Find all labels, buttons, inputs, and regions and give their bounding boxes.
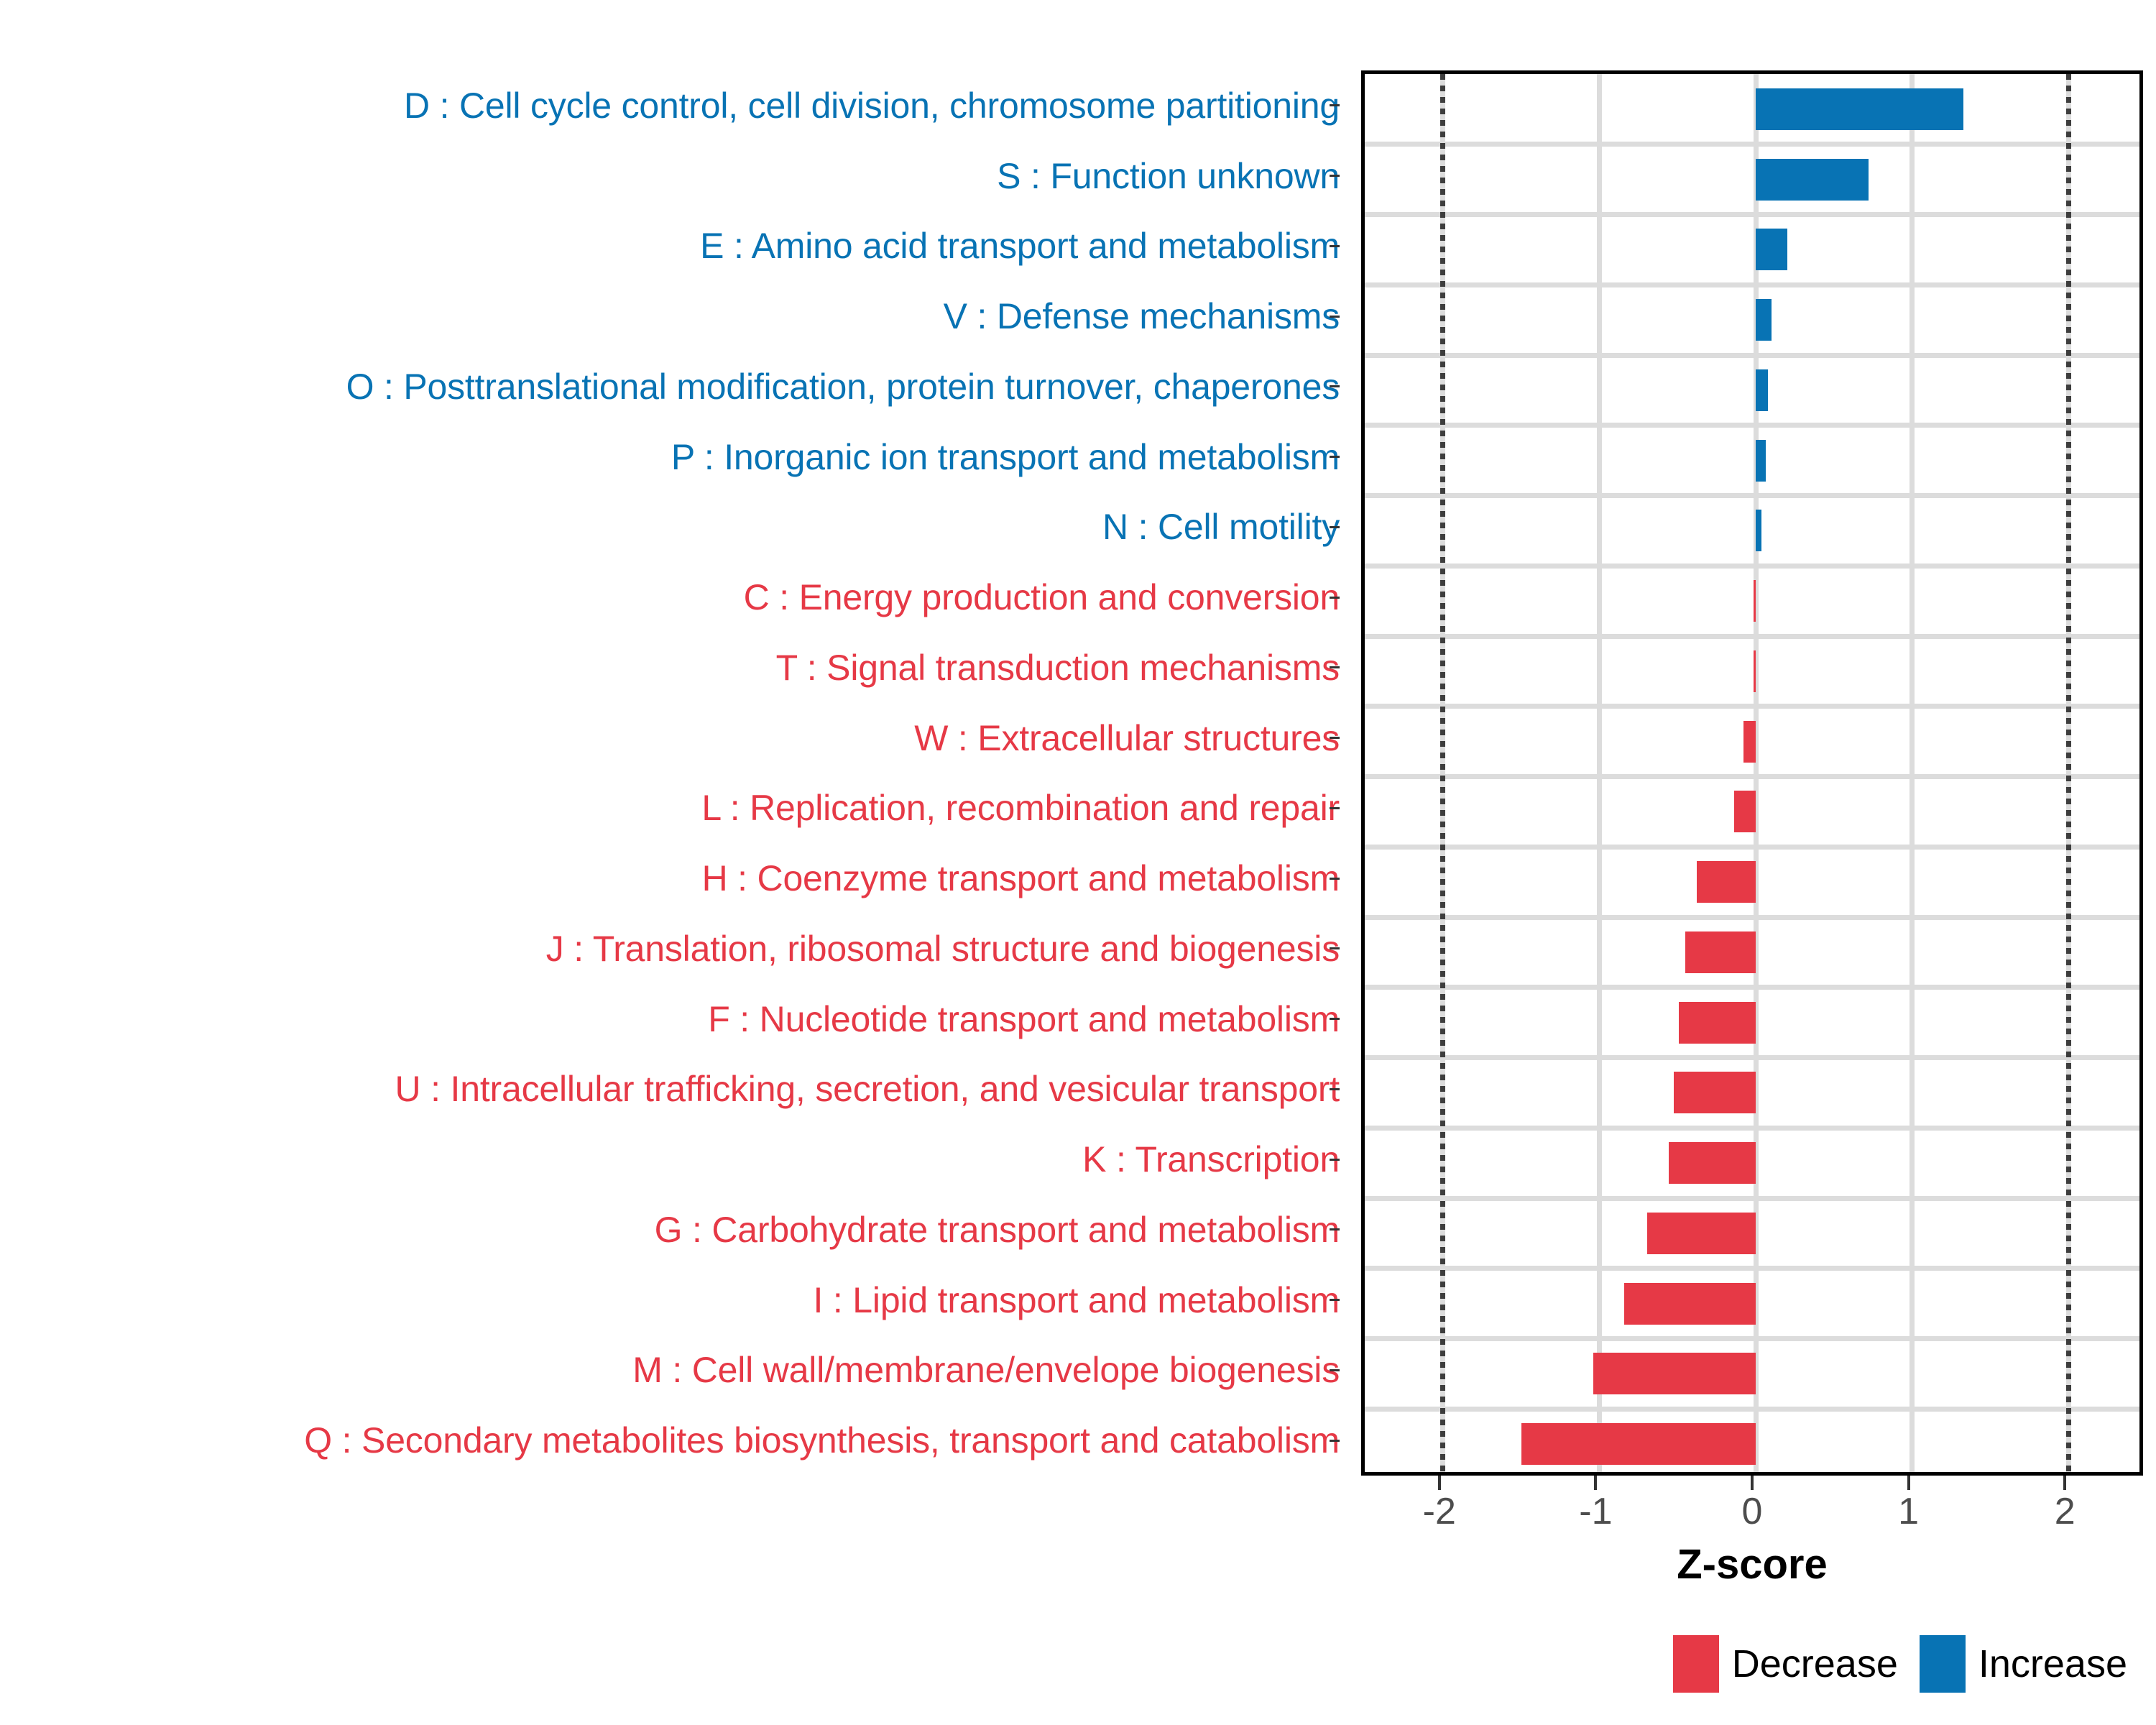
category-label-text: I : Lipid transport and metabolism — [814, 1282, 1340, 1318]
chart-container: D : Cell cycle control, cell division, c… — [0, 0, 2156, 1725]
grid-line-horizontal — [1365, 563, 2139, 569]
category-label-wrap: F : Nucleotide transport and metabolism — [0, 984, 1340, 1054]
category-label-text: O : Posttranslational modification, prot… — [346, 369, 1340, 405]
category-label-text: Q : Secondary metabolites biosynthesis, … — [304, 1422, 1340, 1458]
category-label-row: J : Translation, ribosomal structure and… — [0, 914, 1350, 984]
category-axis-tick — [1330, 1369, 1340, 1371]
category-label-text: K : Transcription — [1082, 1141, 1340, 1177]
grid-line-horizontal — [1365, 1336, 2139, 1341]
x-axis-tick-label: -1 — [1579, 1493, 1612, 1530]
category-axis-tick — [1330, 1440, 1340, 1442]
category-axis-tick — [1330, 456, 1340, 458]
category-label-wrap: J : Translation, ribosomal structure and… — [0, 914, 1340, 984]
category-label-row: O : Posttranslational modification, prot… — [0, 351, 1350, 422]
category-label-wrap: N : Cell motility — [0, 492, 1340, 563]
legend-item[interactable]: Decrease — [1673, 1635, 1898, 1693]
category-label-wrap: D : Cell cycle control, cell division, c… — [0, 70, 1340, 141]
category-label-wrap: U : Intracellular trafficking, secretion… — [0, 1054, 1340, 1125]
x-axis-title: Z-score — [1361, 1544, 2143, 1586]
category-label-wrap: Q : Secondary metabolites biosynthesis, … — [0, 1405, 1340, 1476]
category-label-text: W : Extracellular structures — [914, 720, 1340, 756]
reference-line — [2066, 74, 2071, 1472]
grid-line-horizontal — [1365, 1126, 2139, 1131]
category-label-text: D : Cell cycle control, cell division, c… — [404, 88, 1340, 124]
category-label-text: C : Energy production and conversion — [744, 579, 1340, 615]
category-label-row: L : Replication, recombination and repai… — [0, 773, 1350, 844]
category-axis-tick — [1330, 1018, 1340, 1020]
bar — [1734, 791, 1756, 832]
category-label-wrap: C : Energy production and conversion — [0, 562, 1340, 632]
category-label-text: T : Signal transduction mechanisms — [776, 650, 1340, 686]
bar — [1624, 1283, 1756, 1325]
category-label-wrap: O : Posttranslational modification, prot… — [0, 351, 1340, 422]
category-label-text: G : Carbohydrate transport and metabolis… — [655, 1212, 1340, 1248]
category-label-row: D : Cell cycle control, cell division, c… — [0, 70, 1350, 141]
category-label-wrap: P : Inorganic ion transport and metaboli… — [0, 422, 1340, 492]
x-axis-tick — [1594, 1476, 1597, 1490]
category-axis-tick — [1330, 597, 1340, 599]
category-axis-tick — [1330, 1159, 1340, 1161]
grid-line-horizontal — [1365, 353, 2139, 358]
grid-line-horizontal — [1365, 845, 2139, 850]
category-label-text: S : Function unknown — [997, 158, 1340, 194]
category-axis-tick — [1330, 245, 1340, 247]
grid-line-horizontal — [1365, 985, 2139, 990]
x-axis-tick — [1438, 1476, 1441, 1490]
category-label-wrap: V : Defense mechanisms — [0, 281, 1340, 351]
category-axis-tick — [1330, 526, 1340, 528]
bar — [1756, 299, 1772, 341]
grid-line-horizontal — [1365, 634, 2139, 639]
category-label-text: P : Inorganic ion transport and metaboli… — [671, 439, 1340, 475]
grid-line-horizontal — [1365, 1266, 2139, 1271]
x-axis-tick-label: -2 — [1423, 1493, 1456, 1530]
plot-area — [1365, 74, 2139, 1472]
legend-item-label: Decrease — [1732, 1644, 1898, 1683]
category-label-row: P : Inorganic ion transport and metaboli… — [0, 422, 1350, 492]
bar — [1674, 1072, 1756, 1113]
category-label-wrap: K : Transcription — [0, 1124, 1340, 1195]
category-label-text: E : Amino acid transport and metabolism — [700, 228, 1340, 264]
category-label-row: H : Coenzyme transport and metabolism — [0, 843, 1350, 914]
bar — [1743, 721, 1756, 763]
chart-legend: DecreaseIncrease — [0, 1635, 2156, 1693]
grid-line-horizontal — [1365, 1407, 2139, 1412]
category-label-text: H : Coenzyme transport and metabolism — [702, 860, 1340, 896]
bar — [1754, 650, 1756, 692]
category-axis-tick — [1330, 1228, 1340, 1230]
category-label-row: N : Cell motility — [0, 492, 1350, 563]
category-label-row: W : Extracellular structures — [0, 703, 1350, 773]
grid-line-horizontal — [1365, 282, 2139, 287]
category-label-row: S : Function unknown — [0, 141, 1350, 211]
legend-color-swatch — [1673, 1635, 1719, 1693]
grid-line-horizontal — [1365, 493, 2139, 498]
bar — [1647, 1213, 1756, 1254]
grid-line-horizontal — [1365, 1055, 2139, 1060]
category-axis-labels: D : Cell cycle control, cell division, c… — [0, 70, 1350, 1476]
bar — [1756, 369, 1768, 411]
x-axis-tick-label: 1 — [1898, 1493, 1919, 1530]
category-label-row: I : Lipid transport and metabolism — [0, 1265, 1350, 1335]
category-axis-tick — [1330, 737, 1340, 739]
category-axis-tick — [1330, 104, 1340, 106]
category-label-row: G : Carbohydrate transport and metabolis… — [0, 1195, 1350, 1265]
category-label-wrap: S : Function unknown — [0, 141, 1340, 211]
bar — [1754, 580, 1756, 622]
category-label-row: C : Energy production and conversion — [0, 562, 1350, 632]
category-label-row: U : Intracellular trafficking, secretion… — [0, 1054, 1350, 1125]
category-axis-tick — [1330, 666, 1340, 668]
x-axis-tick-label: 2 — [2055, 1493, 2076, 1530]
grid-line-horizontal — [1365, 704, 2139, 709]
bar — [1756, 440, 1766, 482]
category-label-wrap: I : Lipid transport and metabolism — [0, 1265, 1340, 1335]
category-label-wrap: G : Carbohydrate transport and metabolis… — [0, 1195, 1340, 1265]
category-label-wrap: M : Cell wall/membrane/envelope biogenes… — [0, 1335, 1340, 1406]
x-axis-tick-label: 0 — [1742, 1493, 1763, 1530]
category-label-text: N : Cell motility — [1102, 509, 1340, 545]
grid-line-horizontal — [1365, 774, 2139, 779]
category-label-row: V : Defense mechanisms — [0, 281, 1350, 351]
category-label-wrap: W : Extracellular structures — [0, 703, 1340, 773]
category-label-text: J : Translation, ribosomal structure and… — [546, 931, 1340, 967]
bar — [1756, 88, 1963, 130]
category-axis-tick — [1330, 1088, 1340, 1090]
category-label-row: F : Nucleotide transport and metabolism — [0, 984, 1350, 1054]
bar — [1679, 1002, 1756, 1044]
category-label-row: M : Cell wall/membrane/envelope biogenes… — [0, 1335, 1350, 1406]
bar — [1521, 1423, 1756, 1465]
category-label-wrap: T : Signal transduction mechanisms — [0, 632, 1340, 703]
category-label-text: V : Defense mechanisms — [944, 298, 1340, 334]
x-axis-tick — [1907, 1476, 1910, 1490]
legend-color-swatch — [1920, 1635, 1966, 1693]
category-label-row: K : Transcription — [0, 1124, 1350, 1195]
bar — [1756, 159, 1869, 201]
legend-item-label: Increase — [1978, 1644, 2127, 1683]
category-label-text: F : Nucleotide transport and metabolism — [708, 1001, 1340, 1037]
x-axis-tick — [2063, 1476, 2066, 1490]
bar — [1756, 510, 1761, 551]
grid-line-horizontal — [1365, 423, 2139, 428]
bar — [1756, 229, 1787, 270]
grid-line-horizontal — [1365, 915, 2139, 920]
bar — [1669, 1142, 1756, 1184]
category-label-text: M : Cell wall/membrane/envelope biogenes… — [632, 1352, 1340, 1388]
reference-line — [1440, 74, 1445, 1472]
x-axis-tick — [1751, 1476, 1754, 1490]
category-label-row: Q : Secondary metabolites biosynthesis, … — [0, 1405, 1350, 1476]
plot-panel — [1361, 70, 2143, 1476]
category-axis-tick — [1330, 175, 1340, 177]
category-label-text: L : Replication, recombination and repai… — [701, 790, 1340, 826]
category-label-wrap: E : Amino acid transport and metabolism — [0, 211, 1340, 282]
grid-line-horizontal — [1365, 212, 2139, 217]
category-label-row: E : Amino acid transport and metabolism — [0, 211, 1350, 282]
grid-line-horizontal — [1365, 1196, 2139, 1201]
bar — [1685, 931, 1756, 973]
category-label-row: T : Signal transduction mechanisms — [0, 632, 1350, 703]
category-axis-tick — [1330, 316, 1340, 318]
category-axis-tick — [1330, 1299, 1340, 1301]
category-label-wrap: H : Coenzyme transport and metabolism — [0, 843, 1340, 914]
grid-line-horizontal — [1365, 142, 2139, 147]
category-axis-tick — [1330, 385, 1340, 387]
category-axis-tick — [1330, 947, 1340, 949]
bar — [1593, 1353, 1756, 1394]
bar — [1697, 861, 1756, 903]
category-axis-tick — [1330, 807, 1340, 809]
category-label-text: U : Intracellular trafficking, secretion… — [395, 1071, 1340, 1107]
category-axis-tick — [1330, 878, 1340, 880]
category-label-wrap: L : Replication, recombination and repai… — [0, 773, 1340, 844]
legend-item[interactable]: Increase — [1920, 1635, 2127, 1693]
